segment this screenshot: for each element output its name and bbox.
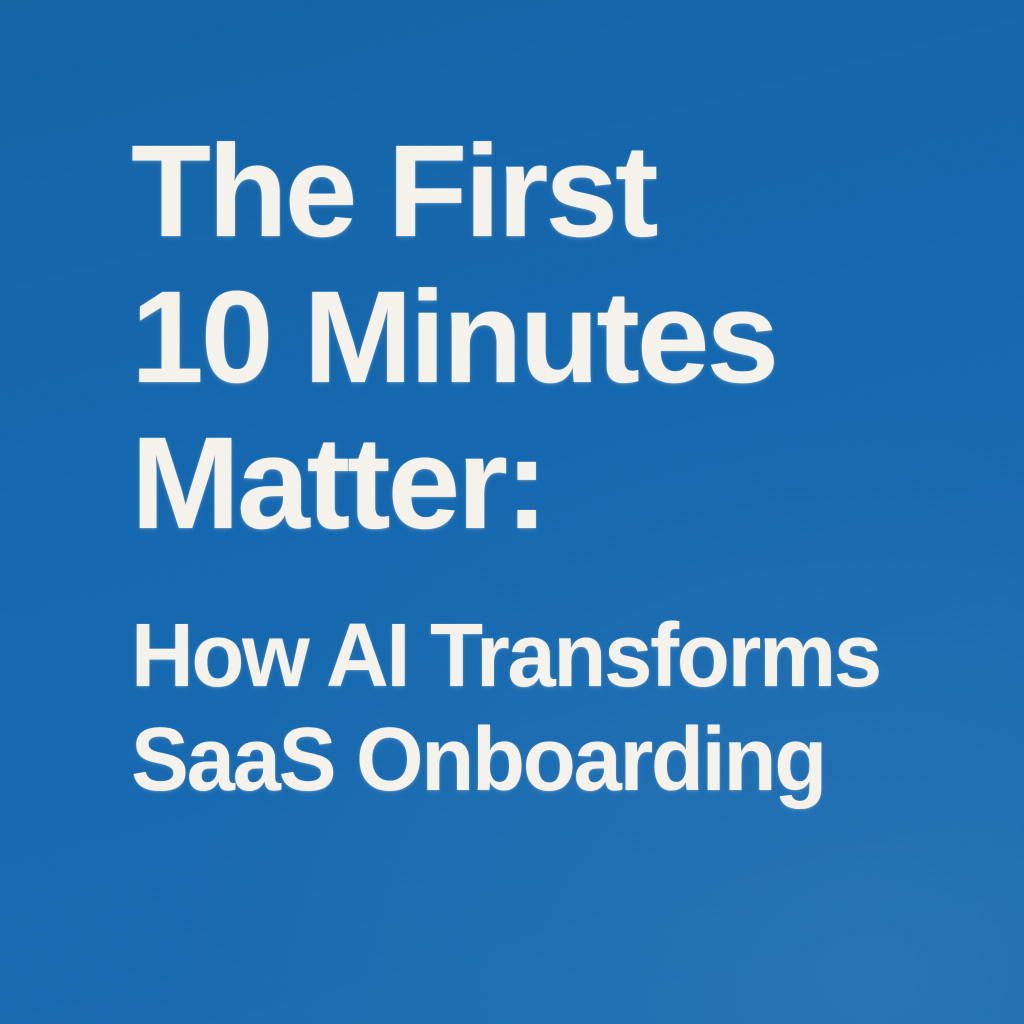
social-card-canvas: The First 10 Minutes Matter: How AI Tran… bbox=[0, 0, 1024, 1024]
page-subtitle: How AI Transforms SaaS Onboarding bbox=[131, 556, 932, 812]
page-title: The First 10 Minutes Matter: bbox=[131, 118, 961, 556]
headline-line-3: Matter: bbox=[131, 410, 961, 556]
subhead-line-1: How AI Transforms bbox=[131, 604, 932, 708]
text-stack: The First 10 Minutes Matter: How AI Tran… bbox=[131, 118, 961, 812]
headline-line-1: The First bbox=[131, 118, 961, 264]
headline-line-2: 10 Minutes bbox=[131, 264, 961, 410]
subhead-line-2: SaaS Onboarding bbox=[131, 708, 932, 812]
